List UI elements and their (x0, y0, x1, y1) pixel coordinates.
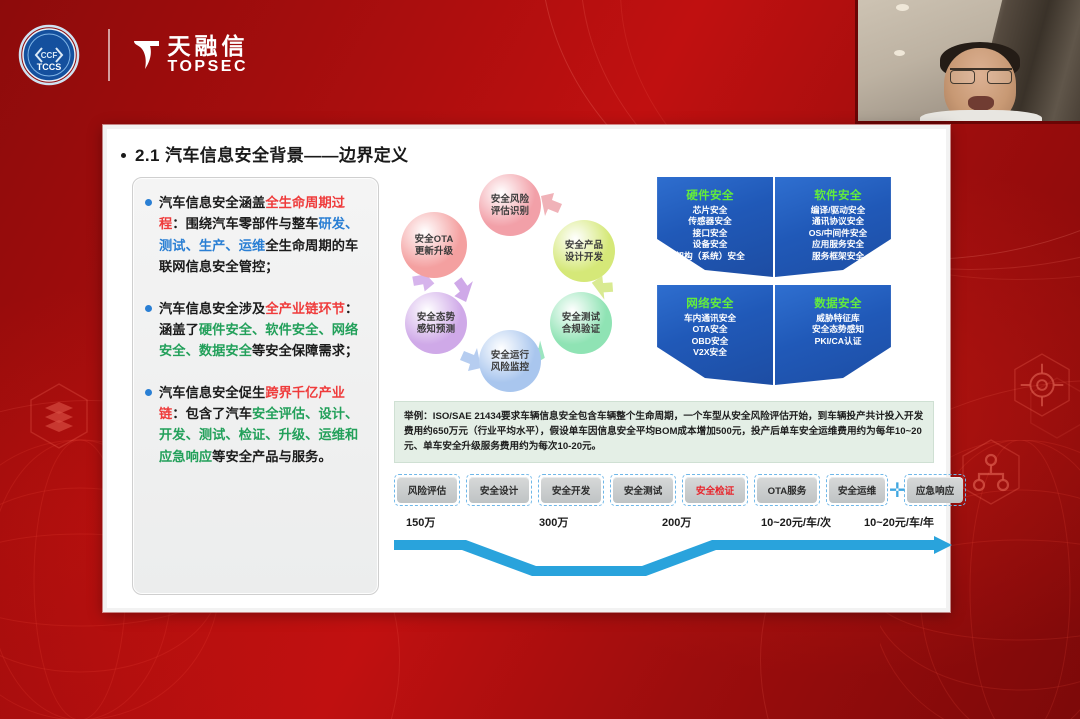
shield-item: 编译/驱动安全 (811, 205, 866, 216)
cost-trend-arrow (394, 536, 952, 576)
speaker-mouth (968, 96, 994, 111)
ceiling-light (894, 50, 905, 56)
brand-name-en: TOPSEC (168, 58, 249, 76)
bullet-segment: 全产业链环节 (265, 301, 345, 316)
cycle-node-line: 安全态势 (417, 311, 455, 323)
topsec-logo: 天融信 TOPSEC (132, 34, 249, 76)
bullet-text: 汽车信息安全涉及全产业链环节：涵盖了硬件安全、软件安全、网络安全、数据安全等安全… (159, 298, 366, 362)
bullet-segment: ：包含了汽车 (172, 406, 252, 421)
shield-item: 应用服务安全 (812, 239, 864, 250)
bullet-item: 汽车信息安全涵盖全生命周期过程：围绕汽车零部件与整车研发、测试、生产、运维全生命… (143, 192, 366, 278)
cycle-node-line: 合规验证 (562, 323, 600, 335)
shield-item: 车内通讯安全 (684, 313, 736, 324)
bullet-item: 汽车信息安全促生跨界千亿产业链：包含了汽车安全评估、设计、开发、测试、检证、升级… (143, 382, 366, 468)
bullet-segment: ：围绕汽车零部件与整车 (172, 216, 318, 231)
shield-panel-硬件安全: 硬件安全芯片安全传感器安全接口安全设备安全架构（系统）安全 (647, 177, 773, 277)
shield-item: 通讯协议安全 (812, 216, 864, 227)
svg-text:CCF: CCF (41, 51, 58, 60)
process-box-label: OTA服务 (757, 477, 817, 503)
shield-hex-icon (1028, 376, 1080, 440)
brand-name-cn: 天融信 (168, 34, 249, 58)
target-hex-icon (1012, 352, 1072, 418)
shield-title: 软件安全 (814, 187, 862, 203)
process-box-OTA服务[interactable]: OTA服务 (754, 474, 820, 506)
process-box-label: 安全设计 (469, 477, 529, 503)
process-box-应急响应[interactable]: 应急响应 (904, 474, 966, 506)
bullet-segment: 等安全保障需求； (252, 343, 358, 358)
cycle-node-line: 安全产品 (565, 239, 603, 251)
title-bullet-icon (121, 153, 126, 158)
tccs-logo-label: TCCS (37, 62, 62, 72)
shield-item: 威胁特征库 (816, 313, 859, 324)
process-box-安全测试[interactable]: 安全测试 (610, 474, 676, 506)
cycle-node-line: 安全运行 (491, 349, 529, 361)
webcam-video-overlay[interactable] (855, 0, 1080, 124)
network-hex-icon (960, 438, 1022, 506)
process-box-安全设计[interactable]: 安全设计 (466, 474, 532, 506)
process-box-label: 安全开发 (541, 477, 601, 503)
tccs-certification-logo: CCF TCCS (18, 24, 80, 86)
process-box-label: 风险评估 (397, 477, 457, 503)
shield-item: V2X安全 (693, 347, 727, 358)
example-text: 举例：ISO/SAE 21434要求车辆信息安全包含车辆整个生命周期，一个车型从… (404, 411, 923, 452)
process-box-label: 安全检证 (685, 477, 745, 503)
process-cost-label: 10~20元/车/次 (761, 514, 831, 530)
bullet-dot-icon (145, 199, 152, 206)
ceiling-light (896, 4, 909, 11)
lifecycle-process-chain: 风险评估安全设计安全开发安全测试安全检证OTA服务安全运维应急响应✛ 150万3… (394, 474, 952, 584)
cycle-node-line: 风险监控 (491, 361, 529, 373)
cycle-node: 安全OTA更新升级 (401, 212, 467, 278)
presentation-stage: CCF TCCS 天融信 TOPSEC 2.1 汽车信息安全 (0, 0, 1080, 719)
shield-item: 设备安全 (693, 239, 728, 250)
cycle-node: 安全风险评估识别 (479, 174, 541, 236)
slide-canvas: 2.1 汽车信息安全背景——边界定义 汽车信息安全涵盖全生命周期过程：围绕汽车零… (103, 125, 950, 612)
plus-icon: ✛ (889, 481, 906, 501)
bullet-item: 汽车信息安全涉及全产业链环节：涵盖了硬件安全、软件安全、网络安全、数据安全等安全… (143, 298, 366, 362)
cycle-node-line: 评估识别 (491, 205, 529, 217)
bullet-dot-icon (145, 389, 152, 396)
bullet-text: 汽车信息安全促生跨界千亿产业链：包含了汽车安全评估、设计、开发、测试、检证、升级… (159, 382, 366, 468)
process-box-label: 安全测试 (613, 477, 673, 503)
shield-item: PKI/CA认证 (815, 336, 862, 347)
shield-item: 安全态势感知 (812, 324, 864, 335)
cycle-node: 安全态势感知预测 (405, 292, 467, 354)
shield-item: 接口安全 (693, 228, 728, 239)
shield-item: 服务框架安全 (812, 251, 864, 262)
shield-panel-软件安全: 软件安全编译/驱动安全通讯协议安全OS/中间件安全应用服务安全服务框架安全 (775, 177, 901, 277)
shield-item: 芯片安全 (693, 205, 728, 216)
slide-title-text: 2.1 汽车信息安全背景——边界定义 (135, 146, 409, 165)
process-box-安全检证[interactable]: 安全检证 (682, 474, 748, 506)
shield-item: OS/中间件安全 (809, 228, 867, 239)
shield-item: OTA安全 (692, 324, 727, 335)
cycle-node: 安全运行风险监控 (479, 330, 541, 392)
shield-title: 硬件安全 (686, 187, 734, 203)
topsec-mark-icon (132, 35, 162, 75)
slide-title: 2.1 汽车信息安全背景——边界定义 (121, 141, 409, 166)
process-cost-label: 200万 (662, 514, 691, 530)
cycle-node-line: 安全风险 (491, 193, 529, 205)
process-box-label: 应急响应 (907, 477, 963, 503)
process-box-风险评估[interactable]: 风险评估 (394, 474, 460, 506)
cycle-node-line: 安全OTA (415, 233, 454, 245)
shield-title: 网络安全 (686, 295, 734, 311)
process-box-安全开发[interactable]: 安全开发 (538, 474, 604, 506)
process-cost-label: 150万 (406, 514, 435, 530)
bullet-list: 汽车信息安全涵盖全生命周期过程：围绕汽车零部件与整车研发、测试、生产、运维全生命… (143, 192, 366, 467)
shield-title: 数据安全 (814, 295, 862, 311)
left-text-panel: 汽车信息安全涵盖全生命周期过程：围绕汽车零部件与整车研发、测试、生产、运维全生命… (132, 177, 379, 595)
lifecycle-cycle-diagram: 安全风险评估识别安全产品设计开发安全测试合规验证安全运行风险监控安全态势感知预测… (395, 174, 640, 399)
brand-divider (108, 29, 110, 81)
bullet-text: 汽车信息安全涵盖全生命周期过程：围绕汽车零部件与整车研发、测试、生产、运维全生命… (159, 192, 366, 278)
cycle-node-line: 设计开发 (565, 251, 603, 263)
cycle-node-line: 安全测试 (562, 311, 600, 323)
cycle-node: 安全测试合规验证 (550, 292, 612, 354)
cycle-node-line: 感知预测 (417, 323, 455, 335)
cycle-node-line: 更新升级 (415, 245, 453, 257)
process-box-安全运维[interactable]: 安全运维 (826, 474, 888, 506)
cycle-node: 安全产品设计开发 (553, 220, 615, 282)
process-cost-label: 10~20元/车/年 (864, 514, 934, 530)
bullet-segment: 等安全产品与服务。 (212, 449, 332, 464)
shield-item: 传感器安全 (688, 216, 731, 227)
bullet-segment: 汽车信息安全涉及 (159, 301, 265, 316)
bullet-segment: 汽车信息安全涵盖 (159, 195, 265, 210)
header-branding: CCF TCCS 天融信 TOPSEC (18, 24, 249, 86)
example-callout-box: 举例：ISO/SAE 21434要求车辆信息安全包含车辆整个生命周期，一个车型从… (394, 401, 934, 463)
security-domain-shields: 硬件安全芯片安全传感器安全接口安全设备安全架构（系统）安全软件安全编译/驱动安全… (647, 177, 927, 402)
bullet-segment: 汽车信息安全促生 (159, 385, 265, 400)
process-cost-label: 300万 (539, 514, 568, 530)
speaker-glasses (950, 68, 1012, 83)
layers-hex-icon (28, 382, 90, 450)
shield-item: 架构（系统）安全 (675, 251, 745, 262)
bullet-dot-icon (145, 305, 152, 312)
speaker-shirt (920, 110, 1042, 124)
shield-panel-数据安全: 数据安全威胁特征库安全态势感知PKI/CA认证 (775, 285, 901, 385)
process-box-label: 安全运维 (829, 477, 885, 503)
shield-item: OBD安全 (692, 336, 729, 347)
shield-panel-网络安全: 网络安全车内通讯安全OTA安全OBD安全V2X安全 (647, 285, 773, 385)
